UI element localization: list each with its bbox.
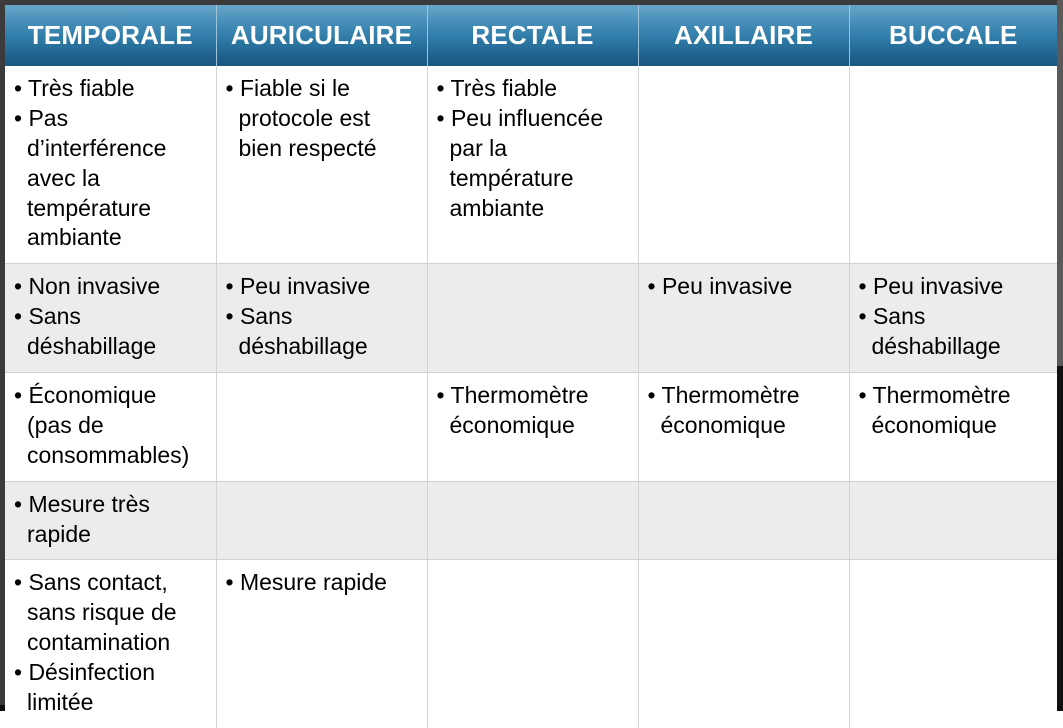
table-cell-temporale[interactable]: • Très fiable• Pas d’interférence avec l… xyxy=(5,66,216,264)
comparison-table-grid: TEMPORALE AURICULAIRE RECTALE AXILLAIRE … xyxy=(5,5,1057,705)
bullet-item: • Sans déshabillage xyxy=(14,302,207,362)
table-cell-auriculaire[interactable]: • Mesure rapide xyxy=(216,560,427,728)
bullet-item: • Thermomètre économique xyxy=(859,381,1049,441)
table-cell-rectale[interactable] xyxy=(427,481,638,560)
bullet-item: • Thermomètre économique xyxy=(437,381,629,441)
column-header-axillaire[interactable]: AXILLAIRE xyxy=(638,5,849,66)
cell-bullet-list: • Thermomètre économique xyxy=(437,381,629,441)
column-header-auriculaire[interactable]: AURICULAIRE xyxy=(216,5,427,66)
column-header-rectale[interactable]: RECTALE xyxy=(427,5,638,66)
table-cell-temporale[interactable]: • Économique (pas de consommables) xyxy=(5,373,216,482)
table-cell-axillaire[interactable] xyxy=(638,66,849,264)
cell-bullet-list: • Peu invasive• Sans déshabillage xyxy=(226,272,418,362)
table-cell-buccale[interactable] xyxy=(849,481,1057,560)
table-cell-temporale[interactable]: • Non invasive• Sans déshabillage xyxy=(5,264,216,373)
bullet-item: • Très fiable xyxy=(437,74,629,104)
bullet-item: • Sans contact, sans risque de contamina… xyxy=(14,568,207,658)
comparison-table: TEMPORALE AURICULAIRE RECTALE AXILLAIRE … xyxy=(5,5,1057,728)
cell-bullet-list: • Non invasive• Sans déshabillage xyxy=(14,272,207,362)
table-row: • Économique (pas de consommables)• Ther… xyxy=(5,373,1057,482)
cell-bullet-list: • Mesure très rapide xyxy=(14,490,207,550)
cell-bullet-list: • Peu invasive• Sans déshabillage xyxy=(859,272,1049,362)
cell-bullet-list: • Très fiable• Pas d’interférence avec l… xyxy=(14,74,207,253)
table-row: • Non invasive• Sans déshabillage• Peu i… xyxy=(5,264,1057,373)
table-cell-axillaire[interactable]: • Thermomètre économique xyxy=(638,373,849,482)
table-cell-auriculaire[interactable]: • Fiable si le protocole est bien respec… xyxy=(216,66,427,264)
cell-bullet-list: • Thermomètre économique xyxy=(859,381,1049,441)
column-header-temporale[interactable]: TEMPORALE xyxy=(5,5,216,66)
table-cell-temporale[interactable]: • Sans contact, sans risque de contamina… xyxy=(5,560,216,728)
table-cell-temporale[interactable]: • Mesure très rapide xyxy=(5,481,216,560)
header-row: TEMPORALE AURICULAIRE RECTALE AXILLAIRE … xyxy=(5,5,1057,66)
bullet-item: • Peu invasive xyxy=(859,272,1049,302)
bullet-item: • Sans déshabillage xyxy=(226,302,418,362)
table-cell-buccale[interactable] xyxy=(849,66,1057,264)
cell-bullet-list: • Fiable si le protocole est bien respec… xyxy=(226,74,418,164)
bullet-item: • Peu invasive xyxy=(226,272,418,302)
bullet-item: • Très fiable xyxy=(14,74,207,104)
table-cell-auriculaire[interactable] xyxy=(216,373,427,482)
bullet-item: • Peu influencée par la température ambi… xyxy=(437,104,629,224)
table-cell-buccale[interactable] xyxy=(849,560,1057,728)
cell-bullet-list: • Économique (pas de consommables) xyxy=(14,381,207,471)
bullet-item: • Désinfection limitée xyxy=(14,658,207,718)
bullet-item: • Économique (pas de consommables) xyxy=(14,381,207,471)
table-cell-axillaire[interactable] xyxy=(638,560,849,728)
frame-border-right-upper xyxy=(1057,0,1063,366)
table-cell-rectale[interactable] xyxy=(427,264,638,373)
comparison-table-frame: TEMPORALE AURICULAIRE RECTALE AXILLAIRE … xyxy=(0,0,1063,711)
table-row: • Mesure très rapide xyxy=(5,481,1057,560)
bullet-item: • Mesure très rapide xyxy=(14,490,207,550)
cell-bullet-list: • Thermomètre économique xyxy=(648,381,840,441)
cell-bullet-list: • Très fiable• Peu influencée par la tem… xyxy=(437,74,629,223)
bullet-item: • Mesure rapide xyxy=(226,568,418,598)
table-cell-rectale[interactable]: • Thermomètre économique xyxy=(427,373,638,482)
table-cell-buccale[interactable]: • Peu invasive• Sans déshabillage xyxy=(849,264,1057,373)
column-header-buccale[interactable]: BUCCALE xyxy=(849,5,1057,66)
bullet-item: • Sans déshabillage xyxy=(859,302,1049,362)
bullet-item: • Non invasive xyxy=(14,272,207,302)
table-cell-auriculaire[interactable] xyxy=(216,481,427,560)
table-header: TEMPORALE AURICULAIRE RECTALE AXILLAIRE … xyxy=(5,5,1057,66)
table-body: • Très fiable• Pas d’interférence avec l… xyxy=(5,66,1057,728)
bullet-item: • Thermomètre économique xyxy=(648,381,840,441)
bullet-item: • Peu invasive xyxy=(648,272,840,302)
table-cell-auriculaire[interactable]: • Peu invasive• Sans déshabillage xyxy=(216,264,427,373)
table-cell-axillaire[interactable]: • Peu invasive xyxy=(638,264,849,373)
table-row: • Sans contact, sans risque de contamina… xyxy=(5,560,1057,728)
cell-bullet-list: • Sans contact, sans risque de contamina… xyxy=(14,568,207,717)
table-cell-rectale[interactable]: • Très fiable• Peu influencée par la tem… xyxy=(427,66,638,264)
table-row: • Très fiable• Pas d’interférence avec l… xyxy=(5,66,1057,264)
table-cell-rectale[interactable] xyxy=(427,560,638,728)
cell-bullet-list: • Peu invasive xyxy=(648,272,840,302)
table-cell-buccale[interactable]: • Thermomètre économique xyxy=(849,373,1057,482)
bullet-item: • Pas d’interférence avec la température… xyxy=(14,104,207,253)
table-cell-axillaire[interactable] xyxy=(638,481,849,560)
cell-bullet-list: • Mesure rapide xyxy=(226,568,418,598)
bullet-item: • Fiable si le protocole est bien respec… xyxy=(226,74,418,164)
